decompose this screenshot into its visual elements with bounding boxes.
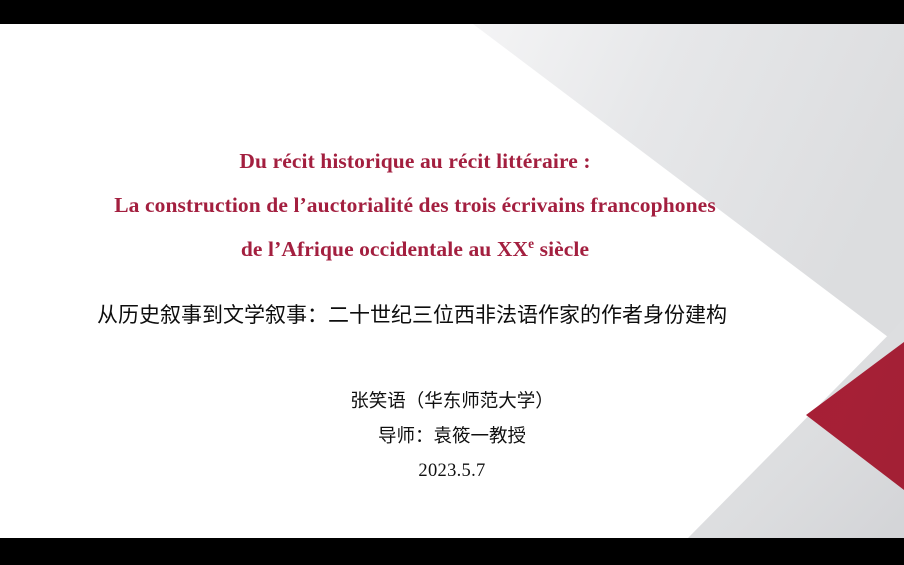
slide-canvas: Du récit historique au récit littéraire … <box>0 24 904 538</box>
title-line-2: La construction de l’auctorialité des tr… <box>0 183 830 227</box>
subtitle-chinese: 从历史叙事到文学叙事：二十世纪三位西非法语作家的作者身份建构 <box>0 299 824 331</box>
title-line-3: de l’Afrique occidentale au XXe siècle <box>0 227 830 271</box>
slide-content: Du récit historique au récit littéraire … <box>0 24 904 538</box>
title-line-3-tail: siècle <box>534 237 589 261</box>
title-line-3-text: de l’Afrique occidentale au XX <box>241 237 528 261</box>
author-block: 张笑语（华东师范大学） 导师：袁筱一教授 2023.5.7 <box>0 384 904 489</box>
letterbox-bar-top <box>0 0 904 24</box>
presentation-slide: Du récit historique au récit littéraire … <box>0 0 904 565</box>
advisor-name: 导师：袁筱一教授 <box>0 419 904 454</box>
letterbox-bar-bottom <box>0 538 904 565</box>
title-block: Du récit historique au récit littéraire … <box>0 139 830 271</box>
presentation-date: 2023.5.7 <box>0 454 904 489</box>
title-line-1: Du récit historique au récit littéraire … <box>0 139 830 183</box>
presenter-name: 张笑语（华东师范大学） <box>0 384 904 419</box>
